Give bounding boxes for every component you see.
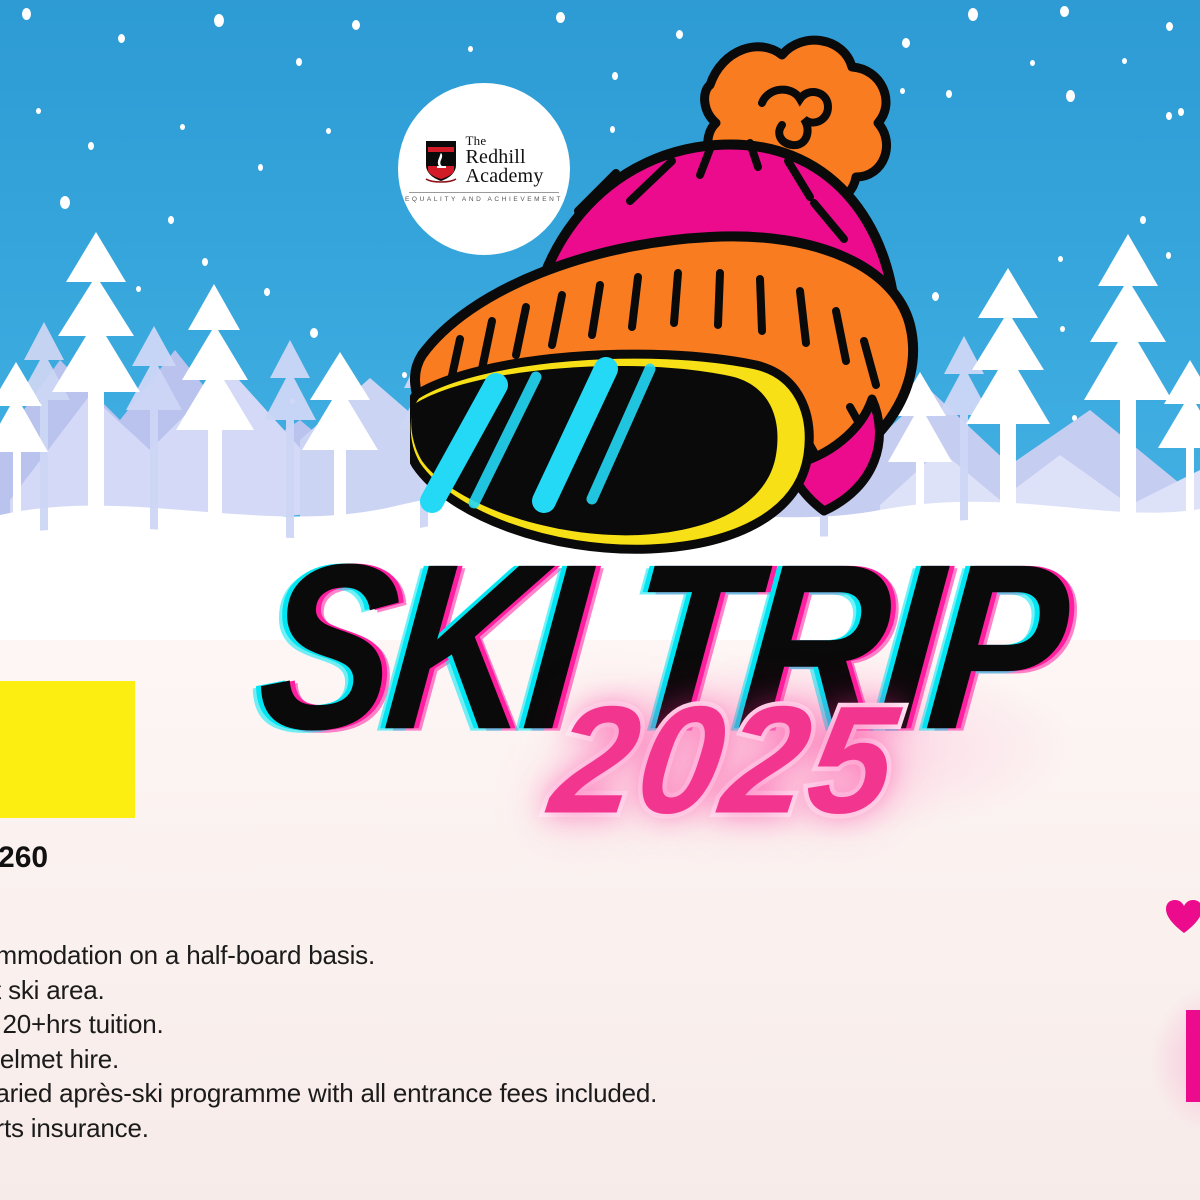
list-item: boot and helmet hire.: [0, 1042, 979, 1077]
logo-redhill: Redhill: [465, 148, 543, 167]
includes-list: hotel accommodation on a half-board basi…: [0, 938, 979, 1145]
logo-academy: Academy: [465, 167, 543, 186]
list-item: ourse with 20+hrs tuition.: [0, 1007, 979, 1042]
poster-year: 2025: [543, 683, 906, 836]
ski-trip-poster: The Redhill Academy EQUALITY AND ACHIEVE…: [0, 0, 1200, 1200]
pink-heart-icon: [1166, 900, 1200, 934]
logo-tagline: EQUALITY AND ACHIEVEMENT: [405, 196, 563, 203]
year-glow: [540, 650, 1080, 840]
pink-accent-bar: [1186, 1010, 1200, 1102]
list-item: winter sports insurance.: [0, 1111, 979, 1146]
list-item: your resort ski area.: [0, 973, 979, 1008]
deposit-info: eposit of £260 ntPay.: [0, 838, 48, 916]
list-item: iting and varied après-ski programme wit…: [0, 1076, 979, 1111]
redhill-crest-icon: [424, 139, 458, 183]
school-logo-badge: The Redhill Academy EQUALITY AND ACHIEVE…: [398, 83, 570, 255]
ski-goggles-icon: [410, 354, 809, 549]
deposit-line-2: ntPay.: [0, 877, 48, 916]
logo-divider: [409, 192, 559, 193]
price-highlight-block: [0, 681, 135, 818]
deposit-line-1: eposit of £260: [0, 838, 48, 877]
list-item: hotel accommodation on a half-board basi…: [0, 938, 979, 973]
